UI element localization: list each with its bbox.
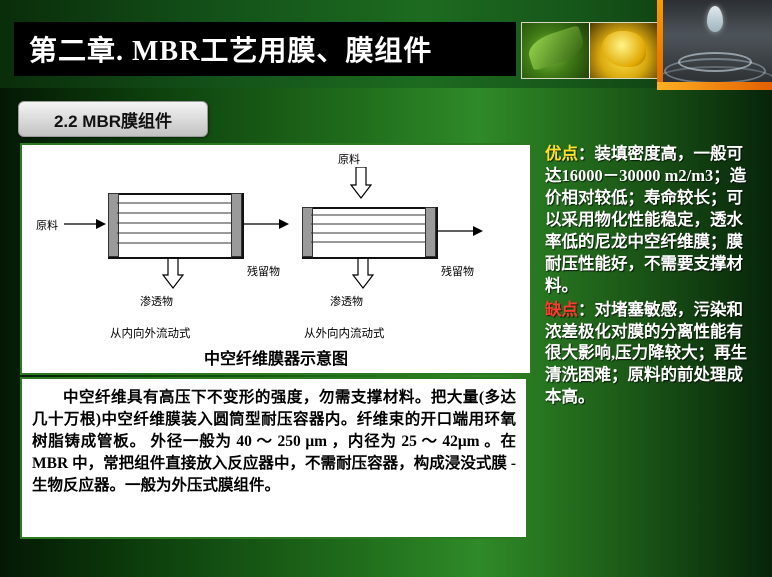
header-image-strip <box>521 22 659 79</box>
pros-block: 优点：装填密度高，一般可达16000－30000 m2/m3；造价相对较低；寿命… <box>545 143 755 297</box>
right-mode-label: 从外向内流动式 <box>304 325 385 341</box>
diagram-caption: 中空纤维膜器示意图 <box>22 345 530 369</box>
right-permeate-label: 渗透物 <box>330 293 363 309</box>
orange-accent-bottom <box>657 82 772 90</box>
orange-accent-bar <box>657 0 663 88</box>
right-module-fibers <box>311 209 425 253</box>
left-feed-arrow-icon <box>64 217 106 231</box>
body-text-panel: 中空纤维具有高压下不变形的强度，勿需支撑材料。把大量(多达几十万根)中空纤维膜装… <box>20 377 528 539</box>
leaf-photo <box>522 23 589 78</box>
right-module-endcap-right <box>425 207 436 257</box>
right-retentate-label: 残留物 <box>441 263 474 279</box>
left-module-fibers <box>117 195 231 253</box>
page-title: 第二章. MBR工艺用膜、膜组件 <box>15 29 432 69</box>
left-retentate-label: 残留物 <box>247 263 280 279</box>
right-notes-column: 优点：装填密度高，一般可达16000－30000 m2/m3；造价相对较低；寿命… <box>545 143 755 539</box>
droplet-shape <box>707 6 723 32</box>
pros-keyword: 优点 <box>545 144 578 163</box>
right-retentate-arrow-icon <box>437 224 483 238</box>
slide: 第二章. MBR工艺用膜、膜组件 2.2 MBR膜组件 原料 原料 <box>0 0 772 577</box>
title-bar: 第二章. MBR工艺用膜、膜组件 <box>14 22 516 76</box>
right-feed-arrow-icon <box>350 167 372 199</box>
diagram-panel: 原料 原料 残留物 渗透物 从内向外流动式 <box>20 143 532 375</box>
flower-photo <box>589 23 657 78</box>
right-permeate-arrow-icon <box>352 257 374 289</box>
pros-text: ：装填密度高，一般可达16000－30000 m2/m3；造价相对较低；寿命较长… <box>545 144 746 295</box>
cons-keyword: 缺点 <box>545 300 578 319</box>
section-chip-label: 2.2 MBR膜组件 <box>54 107 172 132</box>
right-feed-label: 原料 <box>338 151 360 167</box>
left-retentate-arrow-icon <box>243 217 289 231</box>
left-feed-label: 原料 <box>36 217 58 233</box>
left-permeate-label: 渗透物 <box>140 293 173 309</box>
cons-block: 缺点：对堵塞敏感，污染和浓差极化对膜的分离性能有很大影响,压力降较大；再生清洗困… <box>545 299 755 409</box>
water-drop-photo <box>657 0 772 88</box>
left-module-endcap-right <box>231 193 242 257</box>
body-paragraph: 中空纤维具有高压下不变形的强度，勿需支撑材料。把大量(多达几十万根)中空纤维膜装… <box>32 387 516 497</box>
left-mode-label: 从内向外流动式 <box>110 325 191 341</box>
left-permeate-arrow-icon <box>162 257 184 289</box>
section-chip: 2.2 MBR膜组件 <box>18 101 208 137</box>
